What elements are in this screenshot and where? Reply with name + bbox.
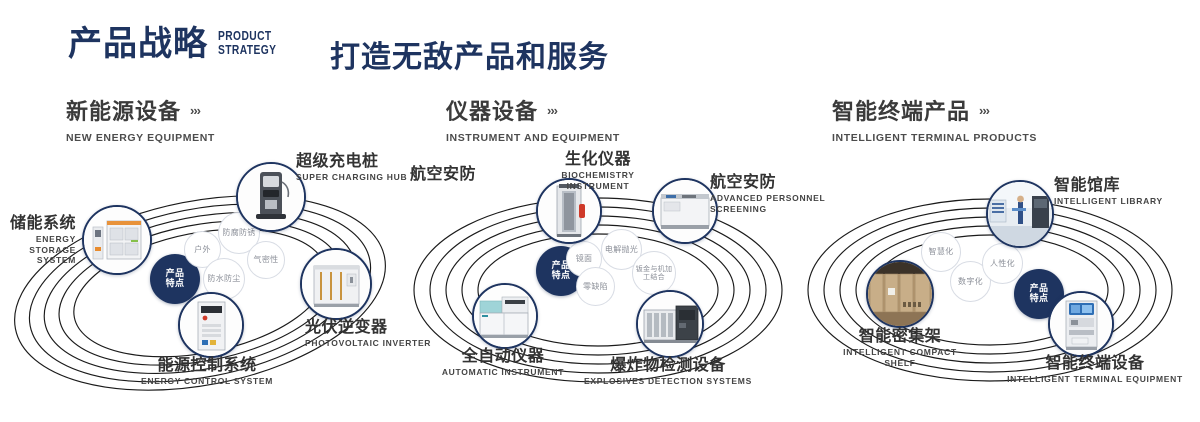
battery-cabinet-icon <box>84 207 150 273</box>
page-slogan: 打造无敌产品和服务 <box>330 32 609 76</box>
product-label-en: BIOCHEMISTRY INSTRUMENT <box>543 170 653 191</box>
page-title: 产品战略 PRODUCT STRATEGY <box>68 26 289 62</box>
explosive-detector-icon <box>638 292 702 356</box>
section-heading-en: INSTRUMENT AND EQUIPMENT <box>446 132 620 144</box>
kiosk-terminal-icon <box>1050 293 1112 355</box>
product-label-biochemistry: 生化仪器 BIOCHEMISTRY INSTRUMENT <box>543 149 653 191</box>
product-label-cn: 智能馆库 <box>1054 175 1184 194</box>
product-label-terminal-equipment: 智能终端设备 INTELLIGENT TERMINAL EQUIPMENT <box>1000 353 1190 385</box>
section-heading-cn: 智能终端产品 <box>832 94 970 126</box>
feature-bubble-sheetmetal-machining[interactable]: 钣金与机加工结合 <box>632 251 676 295</box>
product-label-en: INTELLIGENT COMPACT SHELF <box>830 347 970 368</box>
product-bubble-explosives-detection[interactable] <box>636 290 704 358</box>
product-label-explosives-detection: 爆炸物检测设备 EXPLOSIVES DETECTION SYSTEMS <box>582 355 754 387</box>
feature-bubble-airtight[interactable]: 气密性 <box>247 241 285 279</box>
product-bubble-personnel-screening[interactable] <box>652 178 718 244</box>
product-label-en: EXPLOSIVES DETECTION SYSTEMS <box>582 376 754 387</box>
section-heading-instrument: 仪器设备 ››› INSTRUMENT AND EQUIPMENT <box>446 94 620 144</box>
chevrons-right-icon: ››› <box>547 103 557 118</box>
chevrons-right-icon: ››› <box>979 103 989 118</box>
product-label-en: AUTOMATIC INSTRUMENT <box>422 367 584 378</box>
product-label-cn: 生化仪器 <box>543 149 653 168</box>
feature-bubble-humanized[interactable]: 人性化 <box>982 243 1023 284</box>
section-heading-en: NEW ENERGY EQUIPMENT <box>66 132 215 144</box>
product-label-cn: 智能终端设备 <box>1000 353 1190 372</box>
feature-core-line2: 特点 <box>1030 294 1049 305</box>
product-label-cn: 航空安防 <box>398 164 476 183</box>
page-title-en: PRODUCT STRATEGY <box>218 30 276 62</box>
product-strategy-infographic: 产品战略 PRODUCT STRATEGY 打造无敌产品和服务 新能源设备 ››… <box>0 0 1200 422</box>
product-bubble-pv-inverter[interactable] <box>300 248 372 320</box>
product-label-en: INTELLIGENT LIBRARY <box>1054 196 1184 207</box>
product-label-energy-storage: 储能系统 ENERGY STORAGE SYSTEM <box>0 213 76 266</box>
product-label-cn: 全自动仪器 <box>422 346 584 365</box>
section-heading-cn: 仪器设备 <box>446 94 538 126</box>
section-heading-new-energy: 新能源设备 ››› NEW ENERGY EQUIPMENT <box>66 94 215 144</box>
page-title-cn: 产品战略 <box>68 26 208 62</box>
product-bubble-compact-shelf[interactable] <box>866 260 934 328</box>
feature-bubble-zero-defect[interactable]: 零缺陷 <box>576 267 615 306</box>
product-label-cn: 能源控制系统 <box>92 355 322 374</box>
cluster-intelligent-terminal: 产品 特点 智慧化 数字化 人性化 智能馆库 INTELLIG <box>790 150 1190 420</box>
cluster-instrument: 产品 特点 镜面 电解抛光 零缺陷 钣金与机加工结合 生化仪器 BIOCHEMI… <box>400 150 800 420</box>
section-heading-en: INTELLIGENT TERMINAL PRODUCTS <box>832 132 1037 144</box>
chevrons-right-icon: ››› <box>190 103 200 118</box>
product-label-en: ENERGY CONTROL SYSTEM <box>92 376 322 387</box>
compact-shelf-icon <box>868 262 932 326</box>
feature-bubble-text: 防水防尘 <box>207 274 240 284</box>
product-label-cn: 储能系统 <box>0 213 76 232</box>
product-bubble-intelligent-library[interactable] <box>986 180 1054 248</box>
charging-pile-icon <box>238 164 304 230</box>
page-title-en-line1: PRODUCT <box>218 30 276 44</box>
page-title-en-line2: STRATEGY <box>218 44 276 58</box>
feature-core-line1: 产品 <box>1030 284 1049 295</box>
automatic-analyzer-icon <box>474 285 536 347</box>
product-bubble-energy-control[interactable] <box>178 292 244 358</box>
cluster-new-energy: 产品 特点 户外 防腐防锈 防水防尘 气密性 储 <box>0 150 400 420</box>
control-cabinet-icon <box>180 294 242 356</box>
product-label-compact-shelf: 智能密集架 INTELLIGENT COMPACT SHELF <box>830 326 970 368</box>
library-room-icon <box>988 182 1052 246</box>
product-bubble-energy-storage[interactable] <box>82 205 152 275</box>
product-label-cn: 爆炸物检测设备 <box>582 355 754 374</box>
product-label-intelligent-library: 智能馆库 INTELLIGENT LIBRARY <box>1054 175 1184 207</box>
product-label-cn: 智能密集架 <box>830 326 970 345</box>
feature-bubble-text: 电解抛光 <box>605 245 638 255</box>
feature-bubble-text: 钣金与机加工结合 <box>633 265 675 282</box>
section-heading-intelligent-terminal: 智能终端产品 ››› INTELLIGENT TERMINAL PRODUCTS <box>832 94 1037 144</box>
inverter-cabinet-icon <box>302 250 370 318</box>
feature-core-line2: 特点 <box>552 271 571 282</box>
feature-core-line2: 特点 <box>166 279 185 290</box>
product-label-en: ENERGY STORAGE SYSTEM <box>0 234 76 266</box>
product-bubble-terminal-equipment[interactable] <box>1048 291 1114 357</box>
product-label-aviation-security-left: 航空安防 <box>398 164 476 183</box>
feature-core-line1: 产品 <box>166 269 185 280</box>
product-bubble-automatic-instrument[interactable] <box>472 283 538 349</box>
section-heading-cn: 新能源设备 <box>66 94 181 126</box>
product-label-en: INTELLIGENT TERMINAL EQUIPMENT <box>1000 374 1190 385</box>
screening-machine-icon <box>654 180 716 242</box>
product-label-energy-control: 能源控制系统 ENERGY CONTROL SYSTEM <box>92 355 322 387</box>
product-label-automatic-instrument: 全自动仪器 AUTOMATIC INSTRUMENT <box>422 346 584 378</box>
